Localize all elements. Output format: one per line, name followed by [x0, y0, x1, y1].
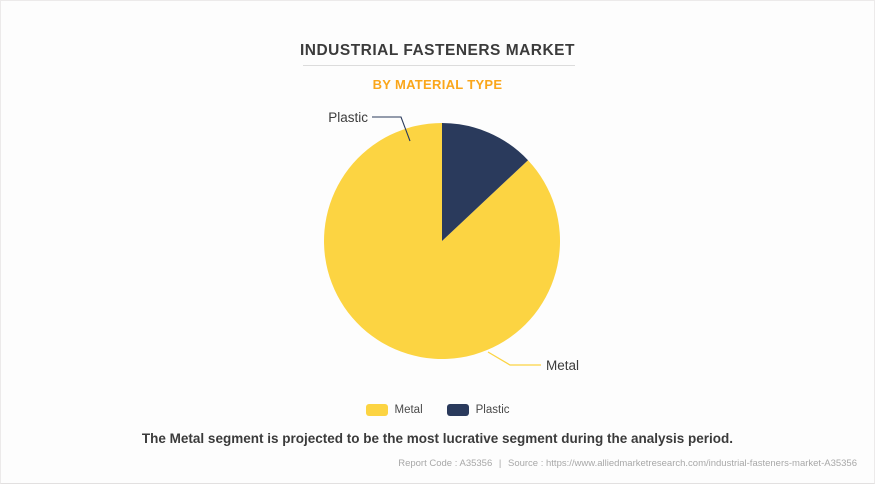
title-divider — [303, 65, 575, 66]
footer-meta: Report Code : A35356 | Source : https://… — [398, 458, 857, 469]
legend-swatch-plastic — [447, 404, 469, 416]
legend-item-plastic[interactable]: Plastic — [447, 404, 510, 416]
legend-item-metal[interactable]: Metal — [366, 404, 423, 416]
chart-caption: The Metal segment is projected to be the… — [1, 431, 874, 446]
report-code-text: Report Code : A35356 — [398, 458, 492, 469]
legend-label-plastic: Plastic — [476, 404, 510, 416]
page-title: INDUSTRIAL FASTENERS MARKET — [1, 42, 874, 60]
chart-subtitle: BY MATERIAL TYPE — [1, 77, 874, 92]
plastic-callout-label: Plastic — [328, 110, 368, 125]
legend-label-metal: Metal — [395, 404, 423, 416]
metal-callout-leader-line — [488, 352, 541, 365]
footer-separator: | — [495, 458, 505, 469]
metal-callout-label: Metal — [546, 358, 579, 373]
pie-chart-svg: Plastic Metal — [1, 101, 875, 391]
chart-legend: Metal Plastic — [1, 404, 874, 416]
legend-swatch-metal — [366, 404, 388, 416]
chart-card: INDUSTRIAL FASTENERS MARKET BY MATERIAL … — [0, 0, 875, 484]
source-text[interactable]: Source : https://www.alliedmarketresearc… — [508, 458, 857, 469]
pie-chart-plot-area: Plastic Metal — [1, 101, 875, 391]
